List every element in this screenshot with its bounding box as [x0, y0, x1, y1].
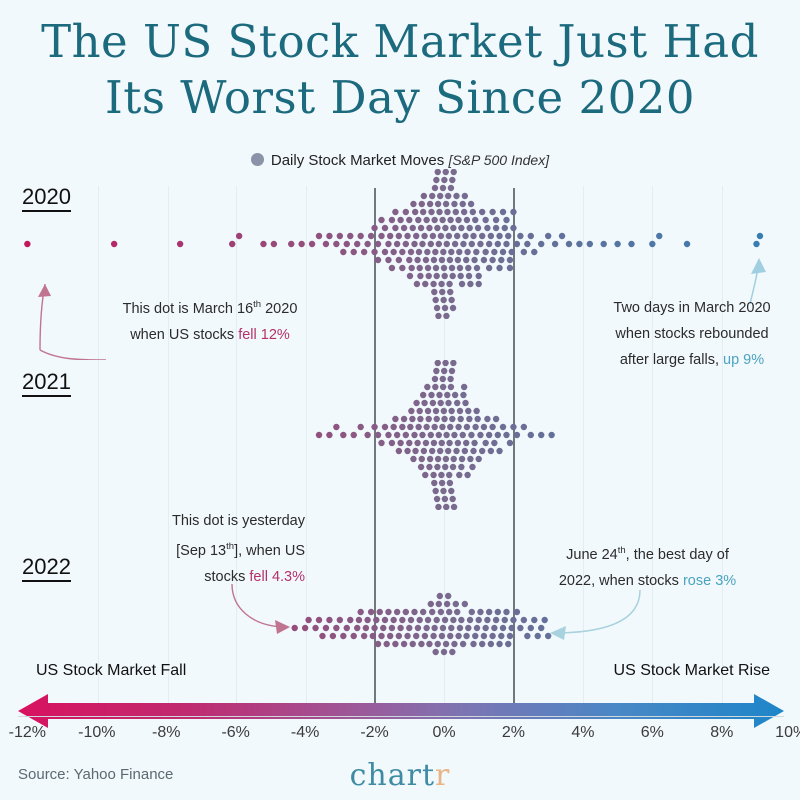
swarm-dot — [432, 649, 438, 655]
swarm-dot — [479, 209, 485, 215]
swarm-dot — [448, 249, 454, 255]
swarm-dot — [340, 249, 346, 255]
swarm-dot — [375, 641, 381, 647]
swarm-dot — [375, 241, 381, 247]
swarm-dot — [507, 257, 513, 263]
swarm-dot — [468, 432, 474, 438]
swarm-dot — [333, 424, 339, 430]
swarm-dot — [415, 217, 421, 223]
swarm-dot — [464, 217, 470, 223]
axis-baseline — [18, 716, 784, 717]
swarm-dot — [545, 633, 551, 639]
axis-label-rise: US Stock Market Rise — [614, 662, 770, 680]
swarm-dot — [446, 609, 452, 615]
annotation-rebound-line1: Two days in March 2020 — [592, 295, 792, 321]
swarm-dot — [419, 201, 425, 207]
swarm-dot — [407, 273, 413, 279]
swarm-dot — [454, 233, 460, 239]
axis-tick: 4% — [571, 724, 594, 742]
swarm-dot — [489, 633, 495, 639]
swarm-dot — [470, 641, 476, 647]
swarm-dot — [503, 609, 509, 615]
swarm-dot — [538, 241, 544, 247]
swarm-dot — [416, 249, 422, 255]
swarm-dot — [417, 273, 423, 279]
swarm-dot — [445, 193, 451, 199]
swarm-dot — [337, 617, 343, 623]
swarm-dot — [469, 609, 475, 615]
axis-tick: 0% — [432, 724, 455, 742]
swarm-dot — [446, 281, 452, 287]
swarm-dot — [468, 201, 474, 207]
swarm-dot — [344, 241, 350, 247]
swarm-dot — [433, 368, 439, 374]
swarm-dot — [370, 633, 376, 639]
swarm-dot — [368, 233, 374, 239]
swarm-dot — [431, 440, 437, 446]
swarm-dot — [489, 424, 495, 430]
swarm-dot — [432, 488, 438, 494]
swarm-dot — [418, 464, 424, 470]
swarm-dot — [410, 225, 416, 231]
swarm-dot — [753, 241, 759, 247]
swarm-dot — [429, 448, 435, 454]
annotation-rebound-line2: when stocks rebounded — [592, 321, 792, 347]
swarm-dot — [460, 432, 466, 438]
swarm-dot — [425, 265, 431, 271]
swarm-dot — [451, 641, 457, 647]
swarm-dot — [432, 384, 438, 390]
swarm-dot — [447, 424, 453, 430]
swarm-dot — [399, 265, 405, 271]
swarm-dot — [517, 233, 523, 239]
swarm-dot — [601, 241, 607, 247]
swarm-dot — [406, 257, 412, 263]
swarm-dot — [493, 225, 499, 231]
swarm-dot — [441, 416, 447, 422]
swarm-dot — [484, 225, 490, 231]
swarm-dot — [482, 625, 488, 631]
swarm-dot — [418, 641, 424, 647]
swarm-dot — [428, 209, 434, 215]
swarm-dot — [464, 472, 470, 478]
swarm-dot — [430, 633, 436, 639]
swarm-dot — [433, 177, 439, 183]
swarm-dot — [432, 297, 438, 303]
swarm-dot — [380, 625, 386, 631]
swarm-dot — [419, 456, 425, 462]
swarm-dot — [488, 233, 494, 239]
swarm-dot — [441, 408, 447, 414]
swarm-dot — [111, 241, 117, 247]
swarm-dot — [417, 617, 423, 623]
swarm-dot — [440, 625, 446, 631]
swarm-dot — [479, 233, 485, 239]
swarm-dot — [292, 625, 298, 631]
swarm-dot — [413, 633, 419, 639]
swarm-dot — [312, 625, 318, 631]
swarm-dot — [347, 617, 353, 623]
swarm-dot — [477, 241, 483, 247]
swarm-dot — [344, 625, 350, 631]
swarm-dot — [474, 625, 480, 631]
swarm-dot — [423, 625, 429, 631]
swarm-dot — [409, 265, 415, 271]
swarm-dot — [356, 617, 362, 623]
swarm-dot — [524, 633, 530, 639]
swarm-dot — [453, 601, 459, 607]
swarm-dot — [422, 281, 428, 287]
swarm-dot — [531, 617, 537, 623]
swarm-dot — [382, 424, 388, 430]
swarm-dot — [382, 617, 388, 623]
swarm-dot — [414, 440, 420, 446]
swarm-dot — [450, 305, 456, 311]
swarm-dot — [399, 249, 405, 255]
swarm-dot — [535, 633, 541, 639]
swarm-dot — [375, 257, 381, 263]
swarm-dot — [502, 225, 508, 231]
swarm-dot — [316, 617, 322, 623]
swarm-dot — [451, 432, 457, 438]
swarm-dot — [489, 209, 495, 215]
swarm-dot — [521, 617, 527, 623]
swarm-dot — [340, 633, 346, 639]
annotation-march16-line1: This dot is March 16th 2020 — [100, 292, 320, 322]
swarm-dot — [451, 456, 457, 462]
swarm-dot — [394, 241, 400, 247]
swarm-dot — [443, 201, 449, 207]
swarm-dot — [528, 625, 534, 631]
swarm-dot — [424, 384, 430, 390]
swarm-dot — [576, 241, 582, 247]
swarm-dot — [437, 193, 443, 199]
annotation-rebound: Two days in March 2020 when stocks rebou… — [592, 295, 792, 373]
swarm-dot — [385, 609, 391, 615]
swarm-dot — [423, 257, 429, 263]
swarm-dot — [433, 265, 439, 271]
swarm-dot — [298, 241, 304, 247]
swarm-dot — [465, 408, 471, 414]
swarm-dot — [500, 625, 506, 631]
swarm-dot — [431, 424, 437, 430]
swarm-dot — [364, 617, 370, 623]
swarm-dot — [460, 201, 466, 207]
swarm-dot — [507, 440, 513, 446]
swarm-dot — [392, 416, 398, 422]
swarm-dot — [445, 448, 451, 454]
swarm-dot — [430, 400, 436, 406]
swarm-dot — [496, 233, 502, 239]
swarm-dot — [440, 384, 446, 390]
chart-legend: Daily Stock Market Moves [S&P 500 Index] — [0, 152, 800, 169]
swarm-dot — [500, 209, 506, 215]
swarm-dot — [432, 376, 438, 382]
axis-tick: -12% — [9, 724, 46, 742]
swarm-dot — [541, 617, 547, 623]
swarm-dot — [435, 201, 441, 207]
beeswarm-2021 — [0, 360, 800, 510]
swarm-dot — [347, 233, 353, 239]
swarm-dot — [385, 257, 391, 263]
swarm-dot — [326, 233, 332, 239]
swarm-dot — [438, 472, 444, 478]
swarm-dot — [389, 265, 395, 271]
swarm-dot — [439, 424, 445, 430]
swarm-dot — [394, 609, 400, 615]
swarm-dot — [428, 601, 434, 607]
swarm-dot — [453, 448, 459, 454]
infographic-root: The US Stock Market Just Had Its Worst D… — [0, 0, 800, 800]
swarm-dot — [404, 633, 410, 639]
swarm-dot — [340, 432, 346, 438]
swarm-dot — [431, 217, 437, 223]
swarm-dot — [514, 241, 520, 247]
swarm-dot — [397, 217, 403, 223]
swarm-dot — [421, 233, 427, 239]
swarm-dot — [469, 241, 475, 247]
swarm-dot — [357, 609, 363, 615]
swarm-dot — [420, 392, 426, 398]
swarm-dot — [447, 480, 453, 486]
swarm-dot — [413, 233, 419, 239]
swarm-dot — [454, 609, 460, 615]
annotation-march16-line2: when US stocks fell 12% — [100, 322, 320, 348]
swarm-dot — [463, 257, 469, 263]
swarm-dot — [422, 472, 428, 478]
swarm-dot — [438, 400, 444, 406]
swarm-dot — [505, 641, 511, 647]
swarm-dot — [444, 209, 450, 215]
swarm-dot — [326, 617, 332, 623]
swarm-dot — [538, 432, 544, 438]
swarm-dot — [435, 169, 441, 175]
swarm-dot — [463, 633, 469, 639]
swarm-dot — [521, 249, 527, 255]
swarm-dot — [548, 432, 554, 438]
swarm-dot — [414, 281, 420, 287]
swarm-dot — [476, 273, 482, 279]
page-title: The US Stock Market Just Had Its Worst D… — [0, 14, 800, 126]
swarm-dot — [389, 625, 395, 631]
swarm-dot — [333, 625, 339, 631]
swarm-dot — [495, 609, 501, 615]
swarm-dot — [410, 641, 416, 647]
swarm-dot — [467, 456, 473, 462]
swarm-dot — [309, 241, 315, 247]
swarm-dot — [384, 641, 390, 647]
annotation-yesterday: This dot is yesterday [Sep 13th], when U… — [140, 508, 305, 590]
swarm-dot — [401, 416, 407, 422]
swarm-dot — [390, 424, 396, 430]
swarm-dot — [451, 169, 457, 175]
axis-label-fall: US Stock Market Fall — [36, 662, 186, 680]
axis-tick: -2% — [360, 724, 388, 742]
swarm-dot — [271, 241, 277, 247]
swarm-dot — [378, 233, 384, 239]
swarm-dot — [448, 625, 454, 631]
swarm-dot — [390, 617, 396, 623]
swarm-dot — [399, 424, 405, 430]
swarm-dot — [454, 400, 460, 406]
swarm-dot — [481, 257, 487, 263]
swarm-dot — [397, 440, 403, 446]
swarm-dot — [24, 241, 30, 247]
swarm-dot — [441, 649, 447, 655]
swarm-dot — [474, 416, 480, 422]
swarm-dot — [466, 225, 472, 231]
swarm-dot — [177, 241, 183, 247]
swarm-dot — [482, 440, 488, 446]
swarm-dot — [437, 448, 443, 454]
swarm-dot — [486, 609, 492, 615]
swarm-dot — [441, 368, 447, 374]
swarm-dot — [473, 249, 479, 255]
swarm-dot — [449, 649, 455, 655]
swarm-dot — [442, 225, 448, 231]
swarm-dot — [361, 249, 367, 255]
swarm-dot — [521, 424, 527, 430]
swarm-dot — [403, 609, 409, 615]
swarm-dot — [486, 241, 492, 247]
swarm-dot — [482, 249, 488, 255]
swarm-dot — [387, 633, 393, 639]
swarm-dot — [417, 265, 423, 271]
swarm-dot — [449, 265, 455, 271]
axis-tick: -6% — [221, 724, 249, 742]
swarm-dot — [439, 480, 445, 486]
swarm-dot — [486, 432, 492, 438]
swarm-dot — [403, 241, 409, 247]
swarm-dot — [531, 249, 537, 255]
swarm-dot — [392, 209, 398, 215]
swarm-dot — [439, 257, 445, 263]
swarm-dot — [496, 448, 502, 454]
swarm-dot — [432, 249, 438, 255]
swarm-dot — [491, 625, 497, 631]
swarm-dot — [445, 593, 451, 599]
swarm-dot — [559, 233, 565, 239]
swarm-dot — [448, 408, 454, 414]
swarm-dot — [409, 416, 415, 422]
swarm-dot — [514, 609, 520, 615]
swarm-dot — [378, 217, 384, 223]
swarm-dot — [495, 432, 501, 438]
swarm-dot — [431, 625, 437, 631]
annotation-yesterday-line3: stocks fell 4.3% — [140, 564, 305, 590]
swarm-dot — [439, 289, 445, 295]
swarm-dot — [403, 432, 409, 438]
swarm-dot — [545, 233, 551, 239]
swarm-dot — [316, 233, 322, 239]
swarm-dot — [440, 185, 446, 191]
axis-tick: 10% — [775, 724, 800, 742]
swarm-dot — [421, 448, 427, 454]
swarm-dot — [510, 617, 516, 623]
swarm-dot — [406, 440, 412, 446]
swarm-dot — [439, 440, 445, 446]
axis-tick: 8% — [710, 724, 733, 742]
swarm-dot — [357, 424, 363, 430]
swarm-dot — [496, 265, 502, 271]
swarm-dot — [498, 257, 504, 263]
swarm-dot — [426, 416, 432, 422]
swarm-dot — [510, 209, 516, 215]
swarm-dot — [432, 185, 438, 191]
swarm-dot — [371, 249, 377, 255]
swarm-dot — [447, 257, 453, 263]
swarm-dot — [467, 617, 473, 623]
swarm-dot — [351, 633, 357, 639]
swarm-dot — [470, 209, 476, 215]
swarm-dot — [368, 609, 374, 615]
swarm-dot — [373, 617, 379, 623]
swarm-dot — [442, 496, 448, 502]
swarm-dot — [401, 641, 407, 647]
swarm-dot — [382, 249, 388, 255]
swarm-dot — [302, 625, 308, 631]
swarm-dot — [436, 601, 442, 607]
swarm-dot — [510, 424, 516, 430]
swarm-dot — [455, 633, 461, 639]
swarm-dot — [442, 464, 448, 470]
swarm-dot — [466, 416, 472, 422]
swarm-dot — [440, 488, 446, 494]
swarm-dot — [444, 392, 450, 398]
swarm-dot — [385, 432, 391, 438]
swarm-dot — [443, 641, 449, 647]
swarm-dot — [419, 432, 425, 438]
swarm-dot — [481, 633, 487, 639]
swarm-dot — [495, 241, 501, 247]
swarm-dot — [447, 633, 453, 639]
swarm-dot — [442, 360, 448, 366]
swarm-dot — [449, 273, 455, 279]
swarm-dot — [448, 488, 454, 494]
swarm-dot — [448, 297, 454, 303]
swarm-dot — [364, 241, 370, 247]
swarm-dot — [476, 456, 482, 462]
swarm-dot — [408, 408, 414, 414]
swarm-dot — [436, 392, 442, 398]
swarm-dot — [470, 233, 476, 239]
swarm-dot — [462, 400, 468, 406]
swarm-dot — [552, 241, 558, 247]
swarm-dot — [456, 249, 462, 255]
swarm-dot — [448, 384, 454, 390]
swarm-dot — [382, 225, 388, 231]
swarm-dot — [435, 456, 441, 462]
swarm-dot — [507, 633, 513, 639]
swarm-dot — [404, 448, 410, 454]
swarm-dot — [411, 432, 417, 438]
swarm-dot — [229, 241, 235, 247]
swarm-dot — [460, 641, 466, 647]
swarm-dot — [472, 217, 478, 223]
swarm-dot — [401, 225, 407, 231]
swarm-dot — [428, 392, 434, 398]
swarm-dot — [455, 440, 461, 446]
swarm-dot — [566, 241, 572, 247]
swarm-dot — [446, 233, 452, 239]
swarm-dot — [427, 201, 433, 207]
swarm-dot — [509, 625, 515, 631]
swarm-dot — [392, 641, 398, 647]
swarm-dot — [446, 440, 452, 446]
swarm-dot — [422, 633, 428, 639]
swarm-dot — [452, 241, 458, 247]
swarm-dot — [333, 241, 339, 247]
